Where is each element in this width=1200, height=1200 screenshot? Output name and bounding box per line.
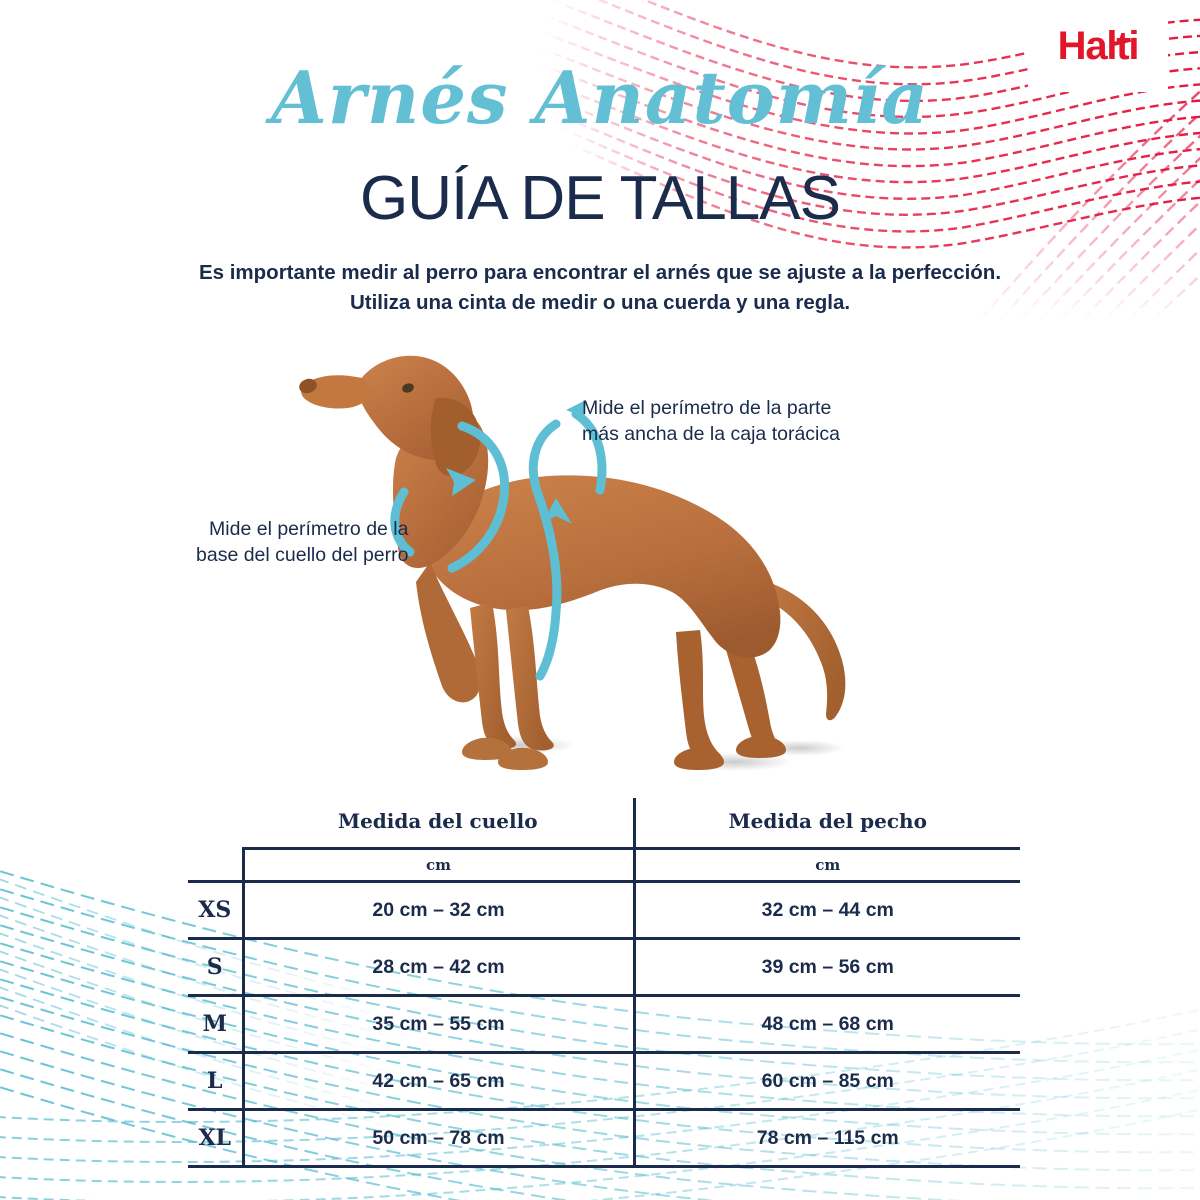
cell-neck: 50 cm – 78 cm: [243, 1110, 634, 1167]
script-title-text: Arnés Anatomía: [271, 55, 929, 140]
script-title: Arnés Anatomía: [0, 62, 1200, 134]
callout-neck-line-2: base del cuello del perro: [196, 542, 408, 568]
cell-size: M: [188, 996, 243, 1053]
halti-wordmark-part-b: i: [1128, 24, 1138, 68]
callout-chest-line-2: más ancha de la caja torácica: [582, 421, 840, 447]
halti-wordmark-part-a: Hal: [1058, 24, 1117, 68]
size-table-container: Medida del cuello Medida del pecho cm cm…: [188, 798, 1020, 1168]
intro-line-2: Utiliza una cinta de medir o una cuerda …: [0, 288, 1200, 318]
table-header-row: Medida del cuello Medida del pecho: [188, 798, 1020, 849]
table-row: M 35 cm – 55 cm 48 cm – 68 cm: [188, 996, 1020, 1053]
cell-neck: 20 cm – 32 cm: [243, 882, 634, 939]
callout-neck: Mide el perímetro de la base del cuello …: [196, 516, 408, 569]
unit-cell-blank: [188, 849, 243, 882]
halti-t-glyph: t: [1116, 24, 1128, 68]
cell-size: S: [188, 939, 243, 996]
halti-wordmark: Halti: [1058, 26, 1139, 66]
table-row: XS 20 cm – 32 cm 32 cm – 44 cm: [188, 882, 1020, 939]
cell-chest: 32 cm – 44 cm: [634, 882, 1020, 939]
cell-size: XS: [188, 882, 243, 939]
unit-cell-chest: cm: [634, 849, 1020, 882]
intro-line-1: Es importante medir al perro para encont…: [0, 258, 1200, 288]
column-header-chest: Medida del pecho: [634, 798, 1020, 849]
cell-size: L: [188, 1053, 243, 1110]
cell-chest: 78 cm – 115 cm: [634, 1110, 1020, 1167]
cell-neck: 28 cm – 42 cm: [243, 939, 634, 996]
cell-size: XL: [188, 1110, 243, 1167]
unit-cell-neck: cm: [243, 849, 634, 882]
dog-illustration: Mide el perímetro de la base del cuello …: [0, 330, 1200, 790]
cell-chest: 39 cm – 56 cm: [634, 939, 1020, 996]
column-header-size: [188, 798, 243, 849]
intro-paragraph: Es importante medir al perro para encont…: [0, 258, 1200, 317]
cell-neck: 35 cm – 55 cm: [243, 996, 634, 1053]
cell-chest: 48 cm – 68 cm: [634, 996, 1020, 1053]
column-header-neck: Medida del cuello: [243, 798, 634, 849]
size-table: Medida del cuello Medida del pecho cm cm…: [188, 798, 1020, 1168]
table-row: L 42 cm – 65 cm 60 cm – 85 cm: [188, 1053, 1020, 1110]
callout-neck-line-1: Mide el perímetro de la: [196, 516, 408, 542]
table-row: XL 50 cm – 78 cm 78 cm – 115 cm: [188, 1110, 1020, 1167]
page-title-text: GUÍA DE TALLAS: [360, 164, 840, 233]
table-body: XS 20 cm – 32 cm 32 cm – 44 cm S 28 cm –…: [188, 882, 1020, 1167]
size-guide-page: Halti Arnés Anatomía GUÍA DE TALLAS Es i…: [0, 0, 1200, 1200]
halti-logo: Halti: [1028, 0, 1168, 92]
cell-neck: 42 cm – 65 cm: [243, 1053, 634, 1110]
table-row: S 28 cm – 42 cm 39 cm – 56 cm: [188, 939, 1020, 996]
callout-chest: Mide el perímetro de la parte más ancha …: [582, 395, 840, 448]
cell-chest: 60 cm – 85 cm: [634, 1053, 1020, 1110]
halti-wordmark-t: t: [1116, 26, 1128, 66]
page-title: GUÍA DE TALLAS: [0, 168, 1200, 230]
table-unit-row: cm cm: [188, 849, 1020, 882]
callout-chest-line-1: Mide el perímetro de la parte: [582, 395, 840, 421]
